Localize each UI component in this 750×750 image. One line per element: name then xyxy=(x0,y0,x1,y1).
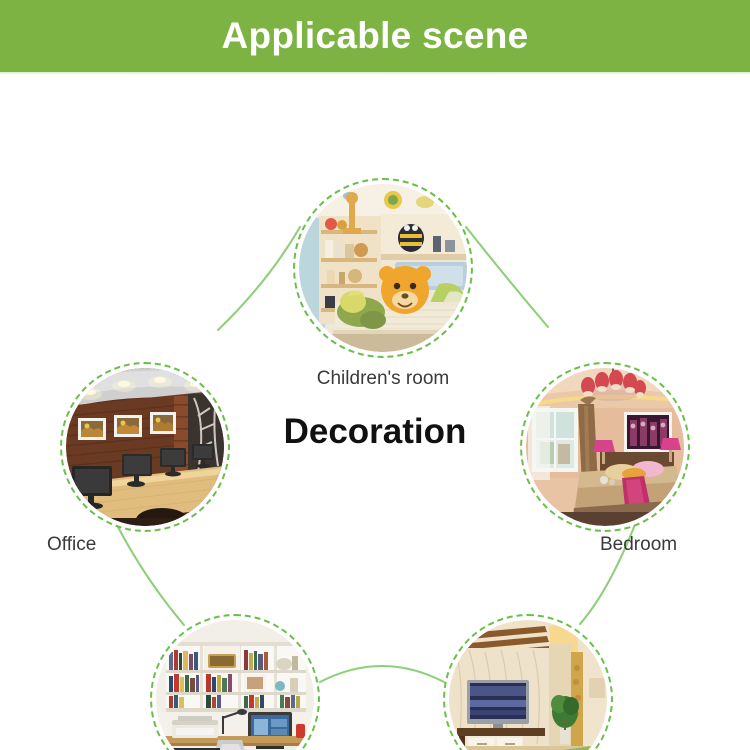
connector-study-office xyxy=(118,527,184,625)
center-title: Decoration xyxy=(0,412,750,452)
header-bar: Applicable scene xyxy=(0,0,750,72)
connector-office-children xyxy=(218,227,300,330)
applicable-scene-infographic: Applicable scene xyxy=(0,0,750,750)
node-label-childrens-room: Children's room xyxy=(293,368,473,390)
connector-children-bedroom xyxy=(466,227,548,327)
connector-living-study xyxy=(320,666,444,682)
node-label-bedroom: Bedroom xyxy=(600,534,677,556)
childrens-room-photo xyxy=(299,184,467,352)
page-title: Applicable scene xyxy=(221,15,528,57)
node-label-office: Office xyxy=(47,534,96,556)
diagram-stage: Children's room xyxy=(0,72,750,750)
